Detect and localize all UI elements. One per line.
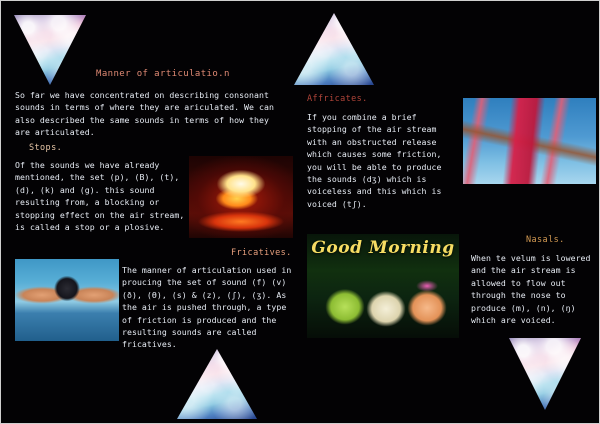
fricatives-body: The manner of articulation used in prouc…	[122, 264, 294, 351]
cloud-triangle-down-icon	[509, 338, 581, 410]
nasals-heading: Nasals.	[526, 235, 565, 245]
stops-body: Of the sounds we have already mentioned,…	[15, 159, 187, 233]
high-jump-athlete-image	[463, 98, 596, 184]
fricatives-paragraph: The manner of articulation used in prouc…	[122, 264, 294, 351]
stops-heading: Stops.	[29, 143, 62, 153]
nasals-paragraph: When te velum is lowered and the air str…	[471, 252, 597, 326]
swimmer-image	[15, 259, 119, 341]
manner-paragraph: So far we have concentrated on describin…	[15, 89, 287, 139]
manner-heading: Manner of articulatio.n	[96, 69, 230, 79]
good-morning-caption: Good Morning	[307, 238, 459, 258]
cloud-triangle-down-icon	[14, 15, 86, 85]
nasals-body: When te velum is lowered and the air str…	[471, 252, 597, 326]
affricates-body: If you combine a brief stopping of the a…	[307, 111, 459, 210]
manner-body: So far we have concentrated on describin…	[15, 89, 287, 139]
good-morning-birds-image: Good Morning	[307, 234, 459, 338]
fricatives-heading: Fricatives.	[231, 248, 292, 258]
affricates-heading: Affricates.	[307, 94, 368, 104]
cloud-triangle-up-icon	[177, 349, 257, 419]
explosion-image	[189, 156, 293, 238]
stops-paragraph: Of the sounds we have already mentioned,…	[15, 159, 187, 233]
cloud-triangle-up-icon	[294, 13, 374, 85]
affricates-paragraph: If you combine a brief stopping of the a…	[307, 111, 459, 210]
presentation-slide: Good Morning Manner of articulatio.n So …	[0, 0, 600, 424]
